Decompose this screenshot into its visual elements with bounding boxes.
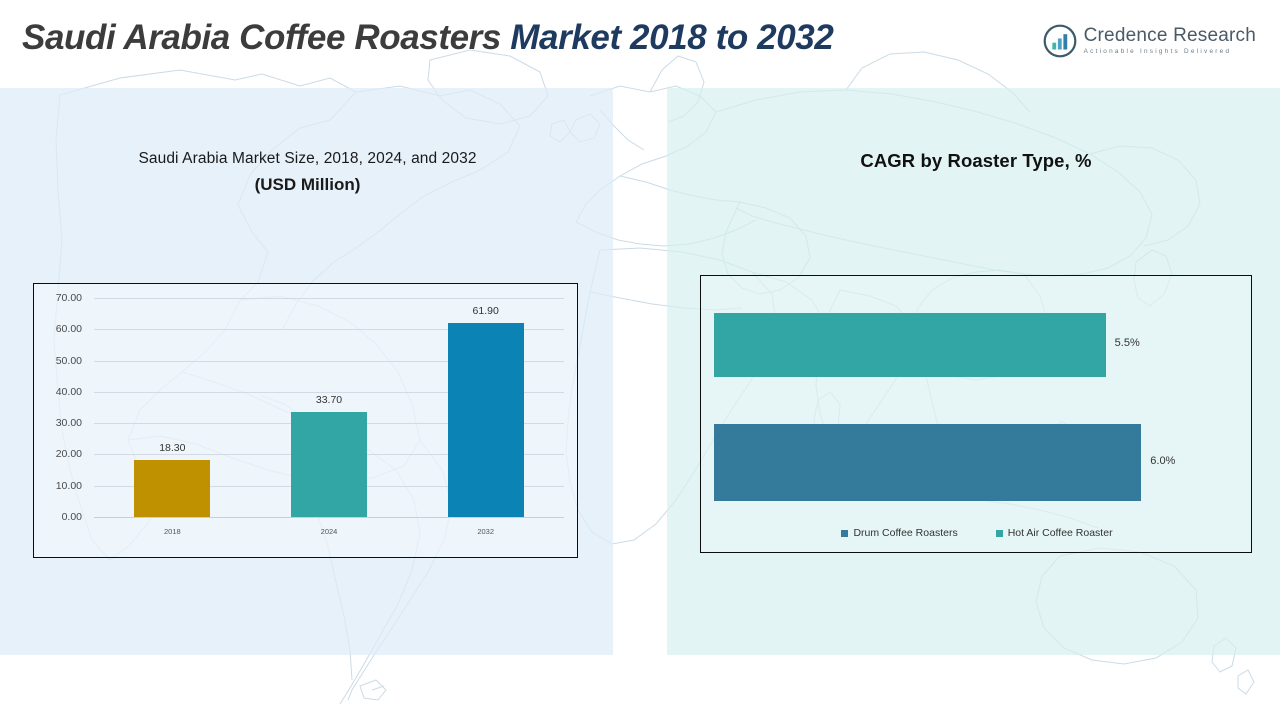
bar-value-label: 5.5% <box>1115 337 1140 349</box>
brand-logo-text: Credence Research Actionable Insights De… <box>1084 26 1256 55</box>
infographic-page: Saudi Arabia Coffee Roasters Market 2018… <box>0 0 1280 720</box>
y-axis-tick-label: 10.00 <box>26 480 82 492</box>
page-title: Saudi Arabia Coffee Roasters Market 2018… <box>22 18 833 58</box>
bar-chart-circle-icon <box>1043 24 1077 58</box>
market-size-x-axis <box>94 517 564 518</box>
bar-value-label: 33.70 <box>289 394 369 406</box>
right-chart-heading: CAGR by Roaster Type, % <box>700 150 1252 172</box>
bar-hot-air-coffee-roaster[interactable] <box>714 313 1106 377</box>
y-axis-tick-label: 30.00 <box>26 417 82 429</box>
y-axis-tick-label: 70.00 <box>26 292 82 304</box>
y-axis-tick-label: 50.00 <box>26 355 82 367</box>
x-axis-tick-label: 2024 <box>289 527 369 536</box>
x-axis-tick-label: 2018 <box>132 527 212 536</box>
brand-name: Credence Research <box>1084 26 1256 45</box>
right-chart-heading-line1: CAGR by Roaster Type, % <box>700 150 1252 172</box>
page-header: Saudi Arabia Coffee Roasters Market 2018… <box>0 0 1280 88</box>
y-axis-tick-label: 20.00 <box>26 448 82 460</box>
y-axis-tick-label: 40.00 <box>26 386 82 398</box>
y-axis-tick-label: 60.00 <box>26 323 82 335</box>
market-size-bar-chart: 0.0010.0020.0030.0040.0050.0060.0070.001… <box>33 283 578 558</box>
left-chart-heading-line2: (USD Million) <box>30 175 585 195</box>
cagr-by-roaster-type-bar-chart: 5.5%6.0% Drum Coffee RoastersHot Air Cof… <box>700 275 1252 553</box>
page-title-part1: Saudi Arabia Coffee Roasters <box>22 18 510 57</box>
bar-value-label: 6.0% <box>1150 455 1175 467</box>
x-axis-tick-label: 2032 <box>446 527 526 536</box>
legend-label: Hot Air Coffee Roaster <box>1008 527 1113 539</box>
brand-tagline: Actionable Insights Delivered <box>1084 49 1256 55</box>
bar-value-label: 61.90 <box>446 305 526 317</box>
legend-item[interactable]: Hot Air Coffee Roaster <box>996 527 1113 539</box>
cagr-legend: Drum Coffee RoastersHot Air Coffee Roast… <box>701 527 1253 539</box>
page-title-part2: Market 2018 to 2032 <box>510 18 833 57</box>
legend-label: Drum Coffee Roasters <box>853 527 957 539</box>
bar-2032[interactable] <box>448 323 524 517</box>
left-chart-heading-line1: Saudi Arabia Market Size, 2018, 2024, an… <box>30 150 585 168</box>
left-chart-heading: Saudi Arabia Market Size, 2018, 2024, an… <box>30 150 585 195</box>
bar-value-label: 18.30 <box>132 442 212 454</box>
cagr-plot-area: 5.5%6.0% <box>701 276 1253 554</box>
bar-2018[interactable] <box>134 460 210 517</box>
legend-item[interactable]: Drum Coffee Roasters <box>841 527 957 539</box>
legend-swatch-icon <box>841 530 848 537</box>
gridline <box>94 298 564 299</box>
brand-logo[interactable]: Credence Research Actionable Insights De… <box>1043 24 1256 58</box>
bar-drum-coffee-roasters[interactable] <box>714 424 1141 501</box>
market-size-plot-area: 0.0010.0020.0030.0040.0050.0060.0070.001… <box>94 298 564 517</box>
y-axis-tick-label: 0.00 <box>26 511 82 523</box>
bar-2024[interactable] <box>291 412 367 517</box>
legend-swatch-icon <box>996 530 1003 537</box>
